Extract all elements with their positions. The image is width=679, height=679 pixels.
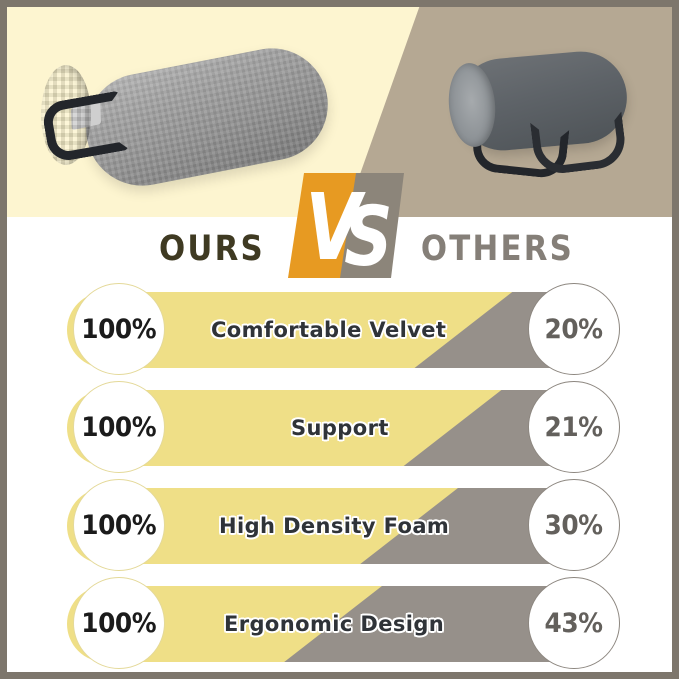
ours-percent-badge: 100%: [73, 479, 165, 571]
others-percent-value: 20%: [545, 314, 603, 345]
comparison-row: Support100%21%: [7, 381, 672, 479]
product-image-others: [427, 55, 642, 180]
feature-label: Comfortable Velvet: [211, 292, 446, 368]
ours-percent-badge: 100%: [73, 577, 165, 669]
others-percent-badge: 20%: [528, 283, 620, 375]
comparison-row: Ergonomic Design100%43%: [7, 577, 672, 675]
comparison-poster: V S OURS OTHERS Comfortable Velvet100%20…: [0, 0, 679, 679]
vs-letter-s: S: [344, 188, 392, 278]
others-percent-value: 30%: [545, 510, 603, 541]
vs-badge: V S: [288, 173, 404, 278]
others-percent-badge: 30%: [528, 479, 620, 571]
comparison-row: High Density Foam100%30%: [7, 479, 672, 577]
ours-percent-value: 100%: [82, 510, 157, 541]
feature-label: Ergonomic Design: [224, 586, 444, 662]
others-percent-value: 21%: [545, 412, 603, 443]
others-percent-badge: 21%: [528, 381, 620, 473]
vs-badge-graphic: V S: [288, 173, 404, 278]
ours-percent-badge: 100%: [73, 283, 165, 375]
feature-label: High Density Foam: [219, 488, 449, 564]
product-image-ours: [43, 59, 329, 177]
header-ours: OURS: [159, 225, 265, 273]
comparison-rows: Comfortable Velvet100%20%Support100%21%H…: [7, 283, 672, 675]
others-percent-value: 43%: [545, 608, 603, 639]
ours-percent-value: 100%: [82, 412, 157, 443]
others-strap-right: [530, 112, 628, 177]
feature-label: Support: [291, 390, 389, 466]
comparison-row: Comfortable Velvet100%20%: [7, 283, 672, 381]
header-others: OTHERS: [421, 225, 574, 273]
ours-percent-badge: 100%: [73, 381, 165, 473]
ours-percent-value: 100%: [82, 314, 157, 345]
ours-percent-value: 100%: [82, 608, 157, 639]
others-percent-badge: 43%: [528, 577, 620, 669]
